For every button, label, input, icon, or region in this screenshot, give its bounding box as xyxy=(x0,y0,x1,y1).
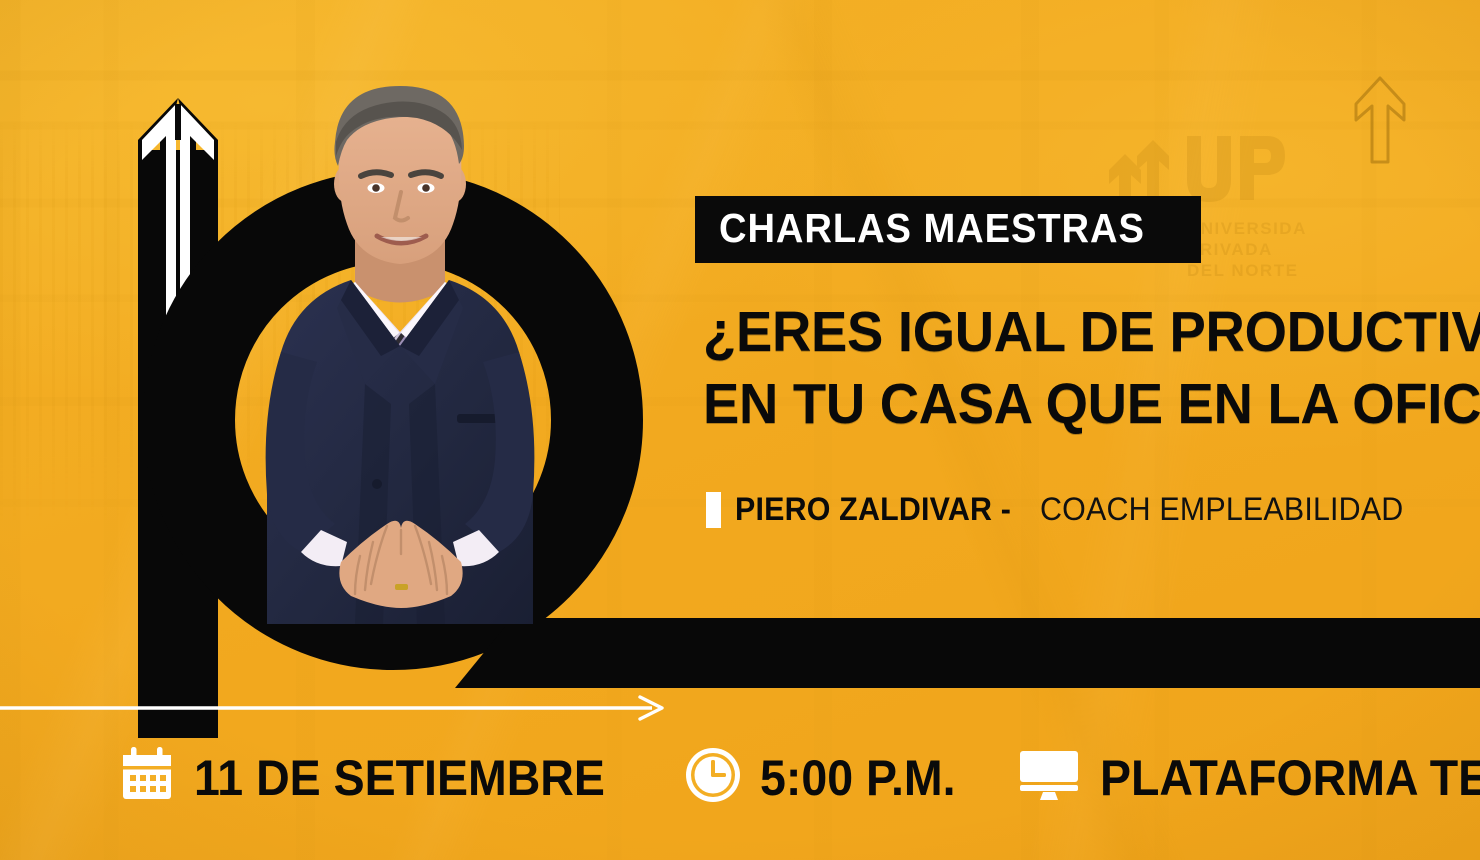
speaker-name: PIERO ZALDIVAR - xyxy=(735,491,1011,528)
clock-icon xyxy=(684,746,742,809)
headline-line-2: EN TU CASA QUE EN LA OFICINA? xyxy=(703,369,1438,441)
event-platform: PLATAFORMA TEAMS xyxy=(1016,746,1480,809)
event-platform-text: PLATAFORMA TEAMS xyxy=(1100,753,1480,803)
headline-line-1: ¿ERES IGUAL DE PRODUCTIVO xyxy=(703,297,1438,369)
watermark-line-1: UNIVERSIDAD xyxy=(1187,219,1305,238)
page-title: ¿ERES IGUAL DE PRODUCTIVO EN TU CASA QUE… xyxy=(703,297,1473,441)
event-date-text: 11 DE SETIEMBRE xyxy=(194,753,605,803)
event-time: 5:00 P.M. xyxy=(684,746,970,809)
category-badge: CHARLAS MAESTRAS xyxy=(695,196,1201,263)
speaker-role: COACH EMPLEABILIDAD xyxy=(1040,491,1403,528)
calendar-icon xyxy=(118,746,176,809)
speaker-credit: PIERO ZALDIVAR - COACH EMPLEABILIDAD xyxy=(706,491,1422,528)
monitor-icon xyxy=(1016,746,1082,809)
event-date: 11 DE SETIEMBRE xyxy=(118,746,636,809)
bullet-marker-icon xyxy=(706,492,721,528)
watermark-line-3: DEL NORTE xyxy=(1187,261,1298,280)
arrow-up-icon xyxy=(1352,74,1408,166)
black-band xyxy=(505,618,1480,688)
event-time-text: 5:00 P.M. xyxy=(760,753,956,803)
speaker-photo xyxy=(205,84,595,624)
category-badge-label: CHARLAS MAESTRAS xyxy=(719,208,1145,249)
arrow-right-rule xyxy=(0,694,670,722)
event-info-bar: 11 DE SETIEMBRE 5:00 P.M. xyxy=(118,746,1480,809)
promo-poster: UNIVERSIDAD PRIVADA DEL NORTE xyxy=(0,0,1480,860)
